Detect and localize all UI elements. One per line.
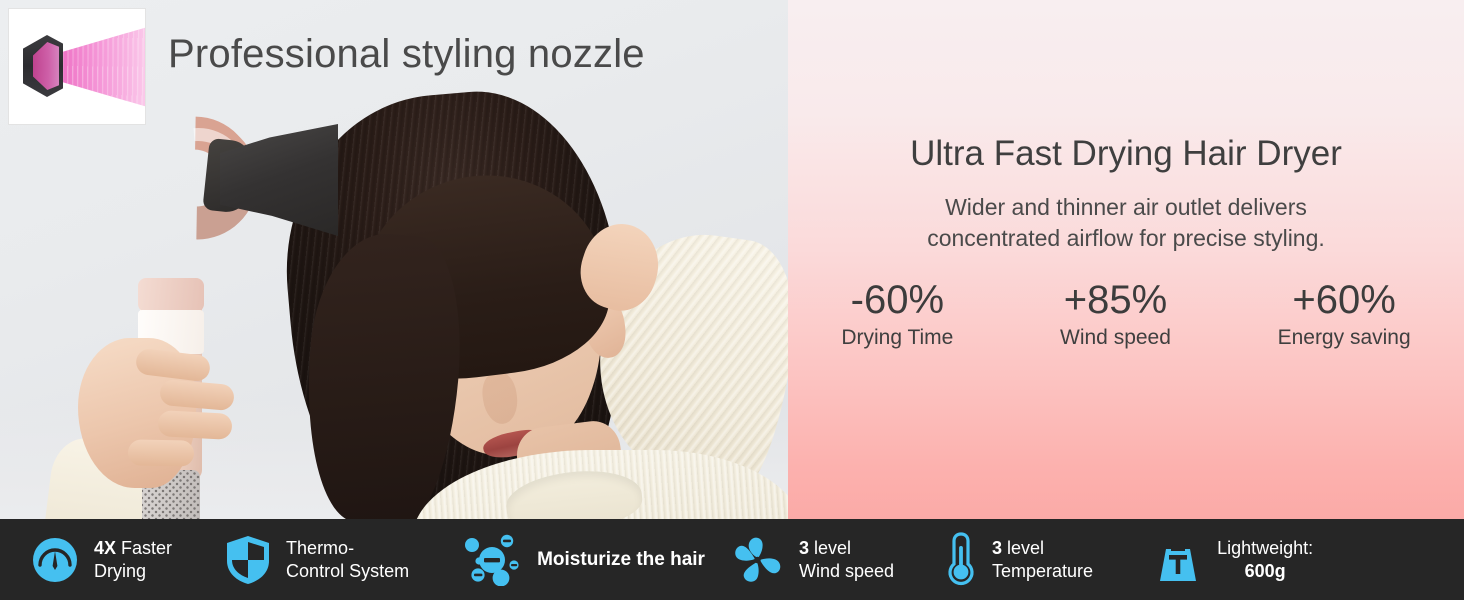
fan-icon — [731, 534, 785, 586]
feature-temperature: 3 level Temperature — [944, 531, 1093, 589]
model-photo — [300, 84, 788, 519]
model-finger — [128, 439, 194, 466]
nozzle-inset-image — [8, 8, 146, 125]
shield-icon — [226, 535, 270, 585]
stat-energy-saving: +60% Energy saving — [1278, 280, 1411, 350]
feature-bar: 4X Faster Drying Thermo- Control System — [0, 519, 1464, 600]
feature-label: 3 level Temperature — [992, 537, 1093, 582]
feature-label: 4X Faster Drying — [94, 537, 172, 582]
product-title: Ultra Fast Drying Hair Dryer — [910, 134, 1342, 174]
feature-line-2: Temperature — [992, 560, 1093, 583]
feature-strong: 3 — [992, 538, 1002, 558]
right-info-panel: Ultra Fast Drying Hair Dryer Wider and t… — [788, 0, 1464, 519]
feature-label: Lightweight: 600g — [1217, 537, 1313, 582]
thermometer-icon — [944, 531, 978, 589]
stat-label: Wind speed — [1060, 326, 1171, 350]
weight-icon — [1153, 535, 1203, 585]
feature-label: Thermo- Control System — [286, 537, 409, 582]
feature-rest: level — [809, 538, 851, 558]
stat-label: Energy saving — [1278, 326, 1411, 350]
stat-wind-speed: +85% Wind speed — [1060, 280, 1171, 350]
product-subtitle: Wider and thinner air outlet delivers co… — [927, 192, 1325, 254]
feature-label: 3 level Wind speed — [799, 537, 894, 582]
model-finger — [157, 410, 232, 440]
feature-thermo-control: Thermo- Control System — [226, 535, 409, 585]
feature-line-1: Lightweight: — [1217, 537, 1313, 560]
feature-moisturize: Moisturize the hair — [461, 534, 705, 586]
stat-drying-time: -60% Drying Time — [841, 280, 953, 350]
speedometer-icon — [32, 537, 78, 583]
feature-faster-drying: 4X Faster Drying — [32, 537, 172, 583]
feature-lightweight: Lightweight: 600g — [1153, 535, 1313, 585]
negative-ion-icon — [461, 534, 525, 586]
feature-line-1: Moisturize the hair — [537, 548, 705, 572]
feature-line-2: 600g — [1245, 561, 1286, 581]
airflow-rays — [53, 23, 146, 111]
subtitle-line-2: concentrated airflow for precise styling… — [927, 223, 1325, 254]
feature-wind-speed: 3 level Wind speed — [731, 534, 894, 586]
feature-strong: 3 — [799, 538, 809, 558]
left-headline: Professional styling nozzle — [168, 32, 645, 77]
stat-label: Drying Time — [841, 326, 953, 350]
feature-line-2: Wind speed — [799, 560, 894, 583]
subtitle-line-1: Wider and thinner air outlet delivers — [927, 192, 1325, 223]
stats-row: -60% Drying Time +85% Wind speed +60% En… — [788, 280, 1464, 350]
feature-line-2: Drying — [94, 560, 172, 583]
feature-label: Moisturize the hair — [537, 548, 705, 572]
stat-value: +85% — [1060, 280, 1171, 320]
left-product-panel: Professional styling nozzle — [0, 0, 788, 519]
hair-dryer-product — [60, 110, 350, 519]
feature-line-1: Thermo- — [286, 537, 409, 560]
stat-value: +60% — [1278, 280, 1411, 320]
feature-rest: Faster — [116, 538, 172, 558]
dryer-rose-band — [138, 278, 204, 312]
stat-value: -60% — [841, 280, 953, 320]
feature-line-2: Control System — [286, 560, 409, 583]
feature-strong: 4X — [94, 538, 116, 558]
product-banner: Professional styling nozzle Ultra Fast D… — [0, 0, 1464, 600]
feature-rest: level — [1002, 538, 1044, 558]
